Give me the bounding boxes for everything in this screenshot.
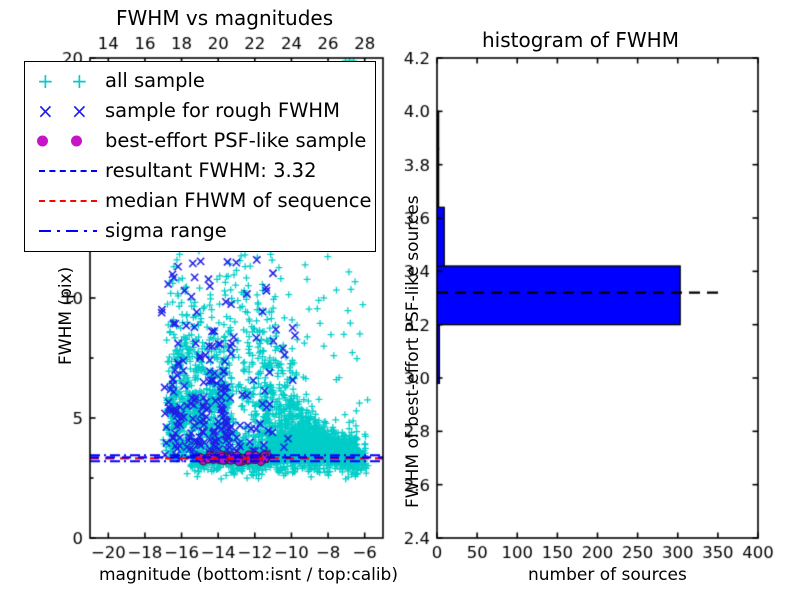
right-plot-title: histogram of FWHM <box>482 28 679 52</box>
right-plot-xlabel: number of sources <box>528 565 687 585</box>
figure-canvas-container: FWHM vs magnitudes magnitude (bottom:isn… <box>0 0 800 600</box>
legend-label-rough-fwhm: sample for rough FWHM <box>105 96 340 126</box>
legend-label-median-fwhm: median FHWM of sequence <box>105 186 371 216</box>
legend-entry-sigma-range: sigma range <box>31 216 369 246</box>
left-plot-xlabel: magnitude (bottom:isnt / top:calib) <box>99 565 398 585</box>
legend-label-sigma-range: sigma range <box>105 216 227 246</box>
legend-entry-median-fwhm: median FHWM of sequence <box>31 186 369 216</box>
legend-entry-psf-sample: best-effort PSF-like sample <box>31 126 369 156</box>
legend-marker-plus-icon: + + <box>31 66 105 96</box>
legend: + + all sample × × sample for rough FWHM… <box>24 61 376 252</box>
legend-label-all-sample: all sample <box>105 66 205 96</box>
left-plot-ylabel: FWHM (pix) <box>56 267 76 365</box>
right-plot-ylabel: FWHM of best-effort PSF-like sources <box>403 195 423 508</box>
legend-label-resultant-fwhm: resultant FWHM: 3.32 <box>105 156 317 186</box>
legend-marker-cross-icon: × × <box>31 96 105 126</box>
legend-label-psf-sample: best-effort PSF-like sample <box>105 126 366 156</box>
legend-entry-resultant-fwhm: resultant FWHM: 3.32 <box>31 156 369 186</box>
legend-marker-red-dashed-icon <box>31 186 105 216</box>
legend-entry-rough-fwhm: × × sample for rough FWHM <box>31 96 369 126</box>
legend-entry-all-sample: + + all sample <box>31 66 369 96</box>
legend-marker-dashdot-icon <box>31 216 105 246</box>
legend-marker-dot-icon <box>31 126 105 156</box>
legend-marker-blue-dashed-icon <box>31 156 105 186</box>
left-plot-title: FWHM vs magnitudes <box>116 6 333 30</box>
